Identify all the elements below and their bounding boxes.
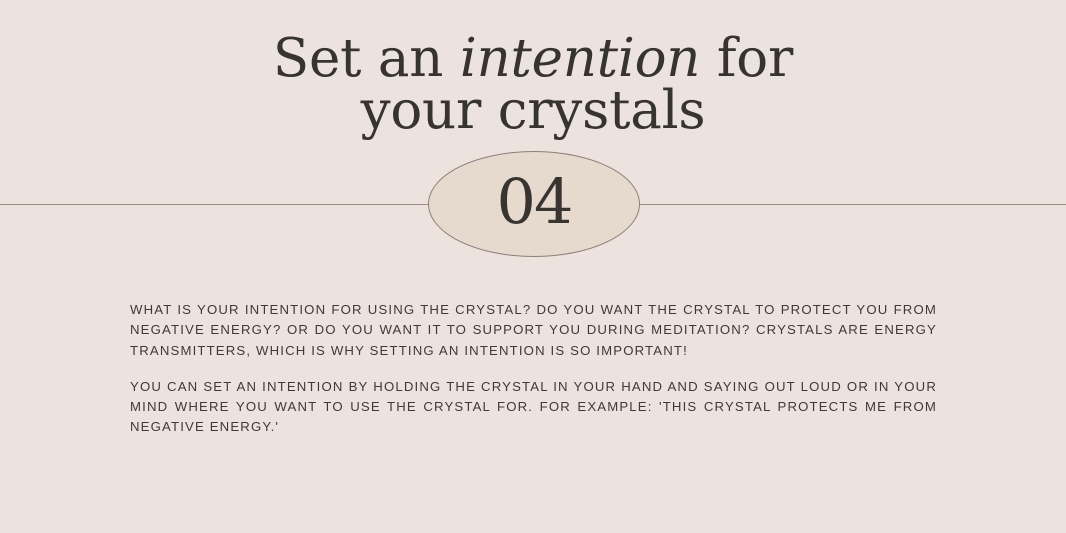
divider-rule-right xyxy=(640,204,1066,205)
body-paragraph-1: What is your intention for using the cry… xyxy=(130,300,937,361)
body-paragraph-2: You can set an intention by holding the … xyxy=(130,377,937,438)
page-title-line-2: your crystals xyxy=(0,85,1066,137)
slide-canvas: Set an intention for your crystals 04 Wh… xyxy=(0,0,1066,533)
page-title-line-1: Set an intention for xyxy=(0,33,1066,85)
body-copy: What is your intention for using the cry… xyxy=(130,300,937,438)
divider-rule-left xyxy=(0,204,428,205)
page-title: Set an intention for your crystals xyxy=(0,33,1066,137)
page-title-line-1-suffix: for xyxy=(700,28,793,89)
step-number-badge: 04 xyxy=(428,151,640,257)
step-number-label: 04 xyxy=(497,171,572,233)
